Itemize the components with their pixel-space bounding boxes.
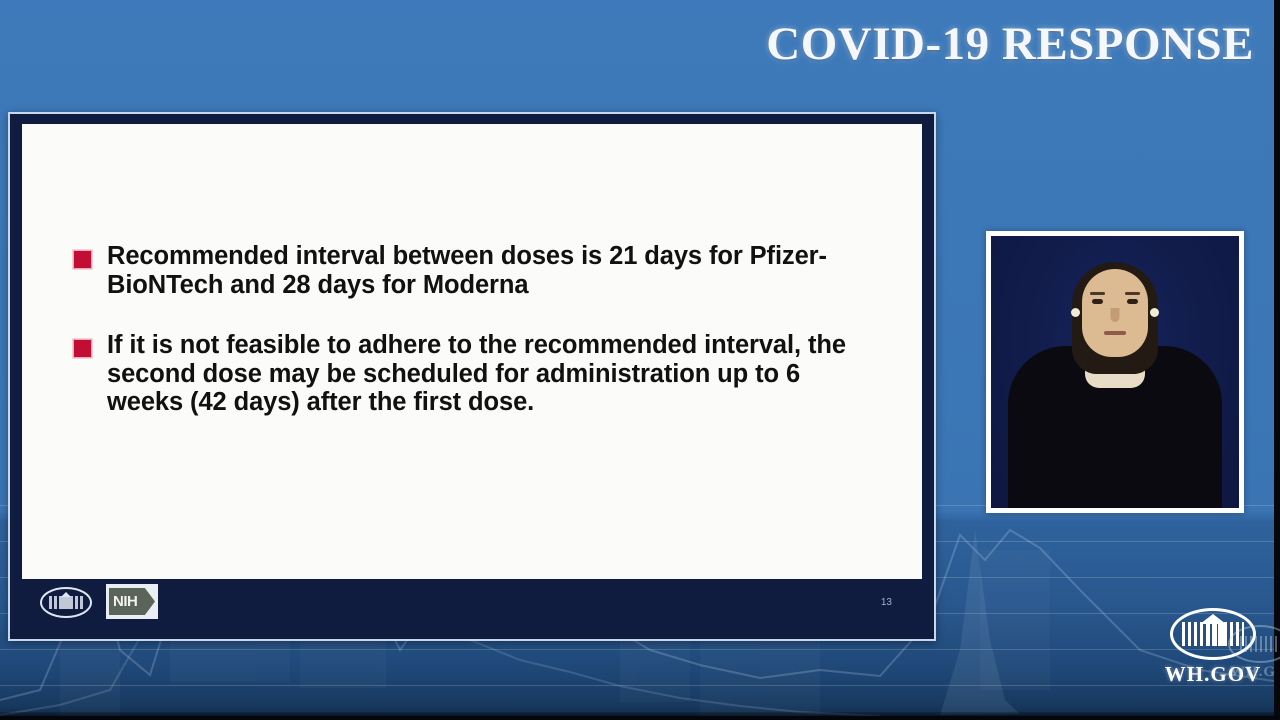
right-black-edge — [1274, 0, 1280, 720]
red-square-bullet-icon — [74, 251, 91, 268]
interpreter-video-inset — [986, 231, 1244, 513]
slide-page-number: 13 — [881, 597, 892, 608]
figure-eye-left — [1092, 299, 1103, 304]
hhs-building-glyph — [49, 596, 83, 609]
slide-frame: Recommended interval between doses is 21… — [10, 114, 934, 639]
list-item: Recommended interval between doses is 21… — [74, 242, 880, 299]
nih-logo-icon: NIH — [106, 584, 158, 619]
figure-eye-right — [1127, 299, 1138, 304]
figure-brow-right — [1125, 292, 1140, 295]
bullet-text: Recommended interval between doses is 21… — [107, 242, 880, 299]
whgov-watermark-ghost: WH.G — [1228, 625, 1280, 681]
white-house-oval-icon-ghost — [1228, 625, 1280, 663]
list-item: If it is not feasible to adhere to the r… — [74, 331, 880, 417]
red-square-bullet-icon — [74, 340, 91, 357]
slide-content-area: Recommended interval between doses is 21… — [22, 124, 922, 579]
hhs-seal-icon — [40, 587, 92, 618]
video-feed — [991, 236, 1239, 508]
broadcast-screen: COVID-19 RESPONSE Recommended interval b… — [0, 0, 1280, 720]
slide-footer: NIH 13 — [22, 579, 922, 631]
bullet-text: If it is not feasible to adhere to the r… — [107, 331, 880, 417]
figure-earring-left — [1071, 308, 1080, 317]
interpreter-figure — [991, 236, 1239, 508]
presentation-slide: Recommended interval between doses is 21… — [8, 112, 936, 641]
figure-mouth — [1104, 331, 1126, 335]
figure-brow-left — [1090, 292, 1105, 295]
figure-earring-right — [1150, 308, 1159, 317]
bullet-list: Recommended interval between doses is 21… — [74, 242, 880, 417]
bottom-black-edge — [0, 716, 1280, 720]
page-title: COVID-19 RESPONSE — [766, 17, 1254, 71]
nih-logo-chevron: NIH — [109, 588, 155, 615]
whgov-label-ghost: WH.G — [1228, 664, 1280, 681]
nih-logo-label: NIH — [113, 593, 137, 610]
white-house-building-glyph-ghost — [1240, 636, 1280, 652]
figure-nose — [1111, 308, 1120, 322]
